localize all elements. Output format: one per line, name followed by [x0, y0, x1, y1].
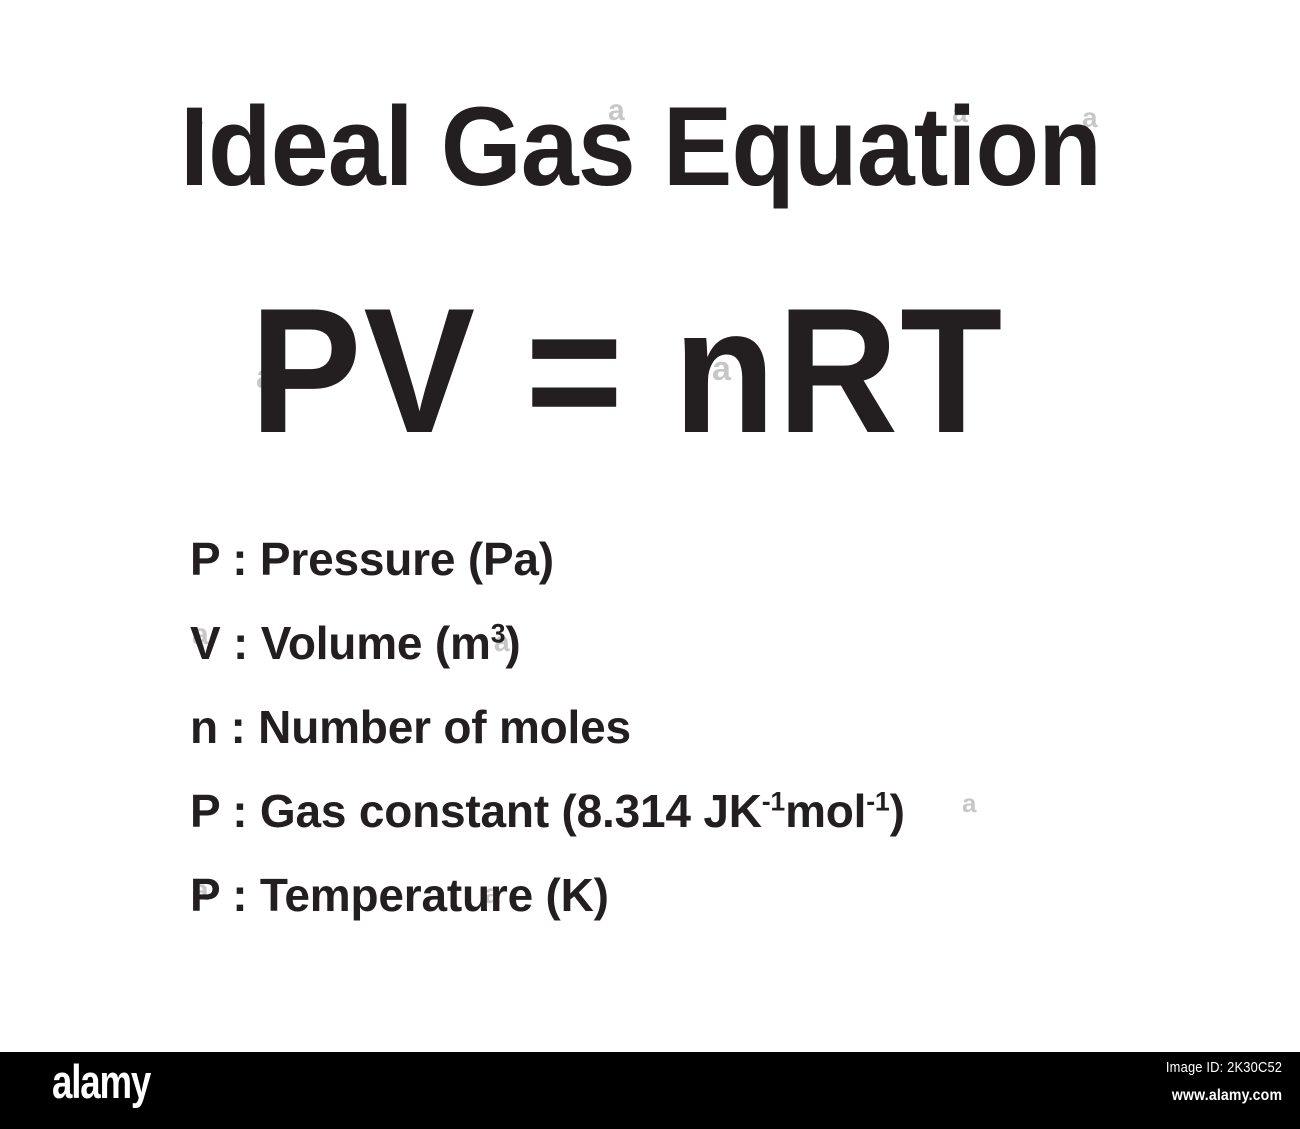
legend-item-temperature: P : Temperature (K): [190, 872, 1090, 956]
screenshot-canvas: a a a a a a a a a a a Ideal Gas Equation…: [0, 0, 1300, 1129]
ideal-gas-equation: PV = nRT: [250, 268, 1004, 473]
legend-gas-constant-suffix: ): [890, 785, 905, 837]
legend-gas-constant-middle: mol: [785, 785, 866, 837]
legend-item-label: P : Temperature (K): [190, 872, 609, 918]
artwork: Ideal Gas Equation PV = nRT P : Pressure…: [0, 0, 1300, 1052]
legend-volume-prefix: V : Volume (m: [190, 617, 491, 669]
legend-volume-exponent: 3: [491, 619, 506, 649]
legend-item-volume: V : Volume (m3): [190, 620, 1090, 704]
legend-item-gas-constant: P : Gas constant (8.314 JK-1mol-1): [190, 788, 1090, 872]
alamy-footer-bar: [0, 1052, 1300, 1129]
page-title: Ideal Gas Equation: [180, 82, 1101, 211]
legend-item-label: V : Volume (m3): [190, 620, 520, 666]
legend-item-label: n : Number of moles: [190, 704, 631, 750]
legend-gas-constant-prefix: P : Gas constant (8.314 JK: [190, 785, 762, 837]
legend-item-label: P : Pressure (Pa): [190, 536, 554, 582]
legend-item-pressure: P : Pressure (Pa): [190, 536, 1090, 620]
image-id-text: Image ID: 2K30C52: [1166, 1060, 1282, 1075]
footer-meta: Image ID: 2K30C52 www.alamy.com: [1147, 1060, 1282, 1104]
legend-gas-constant-exponent-2: -1: [866, 787, 889, 817]
alamy-url-text: www.alamy.com: [1163, 1088, 1282, 1104]
alamy-logo: alamy: [52, 1058, 150, 1105]
legend-volume-suffix: ): [505, 617, 520, 669]
legend-item-label: P : Gas constant (8.314 JK-1mol-1): [190, 788, 905, 834]
legend-item-moles: n : Number of moles: [190, 704, 1090, 788]
legend-list: P : Pressure (Pa) V : Volume (m3) n : Nu…: [190, 536, 1090, 956]
legend-gas-constant-exponent-1: -1: [762, 787, 785, 817]
